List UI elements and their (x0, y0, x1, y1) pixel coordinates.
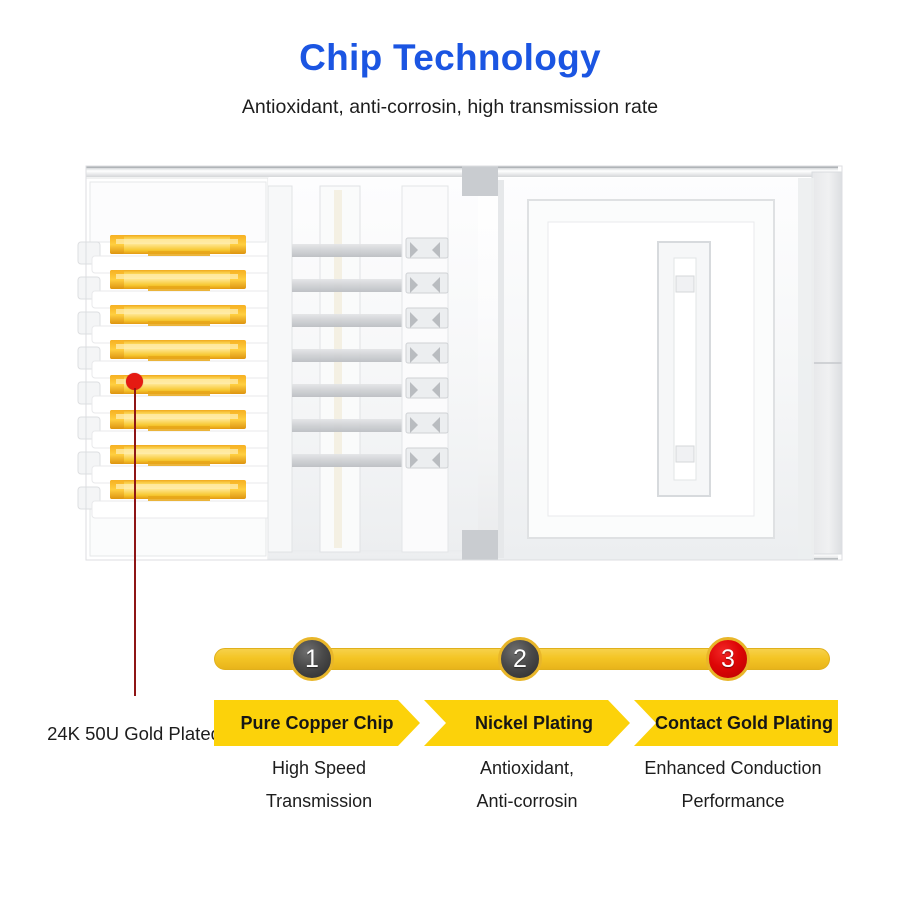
process-banner-3[interactable]: Contact Gold Plating (634, 700, 838, 746)
process-caption-3: Enhanced Conduction Performance (628, 752, 838, 818)
step-circle-2[interactable]: 2 (498, 637, 542, 681)
step-circle-3[interactable]: 3 (706, 637, 750, 681)
callout-leader-line (134, 388, 136, 696)
infographic-page: Chip Technology Antioxidant, anti-corros… (0, 0, 900, 900)
callout-label-line2: Gold Plated (124, 723, 221, 744)
caption-1-line2: Transmission (214, 785, 424, 818)
page-title: Chip Technology (0, 38, 900, 79)
caption-3-line1: Enhanced Conduction (628, 752, 838, 785)
process-banner-1[interactable]: Pure Copper Chip (214, 700, 420, 746)
process-banner-row: Pure Copper Chip Nickel Plating Contact … (214, 700, 838, 746)
process-banner-2[interactable]: Nickel Plating (424, 700, 630, 746)
step-circle-1[interactable]: 1 (290, 637, 334, 681)
process-caption-2: Antioxidant, Anti-corrosin (422, 752, 632, 818)
caption-2-line2: Anti-corrosin (422, 785, 632, 818)
caption-2-line1: Antioxidant, (422, 752, 632, 785)
rj45-connector-image (62, 150, 852, 575)
callout-label: 24K 50U Gold Plated (34, 721, 234, 747)
callout-label-line1: 24K 50U (47, 723, 119, 744)
process-caption-1: High Speed Transmission (214, 752, 424, 818)
caption-1-line1: High Speed (214, 752, 424, 785)
process-caption-row: High Speed Transmission Antioxidant, Ant… (214, 752, 838, 832)
caption-3-line2: Performance (628, 785, 838, 818)
page-subtitle: Antioxidant, anti-corrosin, high transmi… (0, 96, 900, 119)
